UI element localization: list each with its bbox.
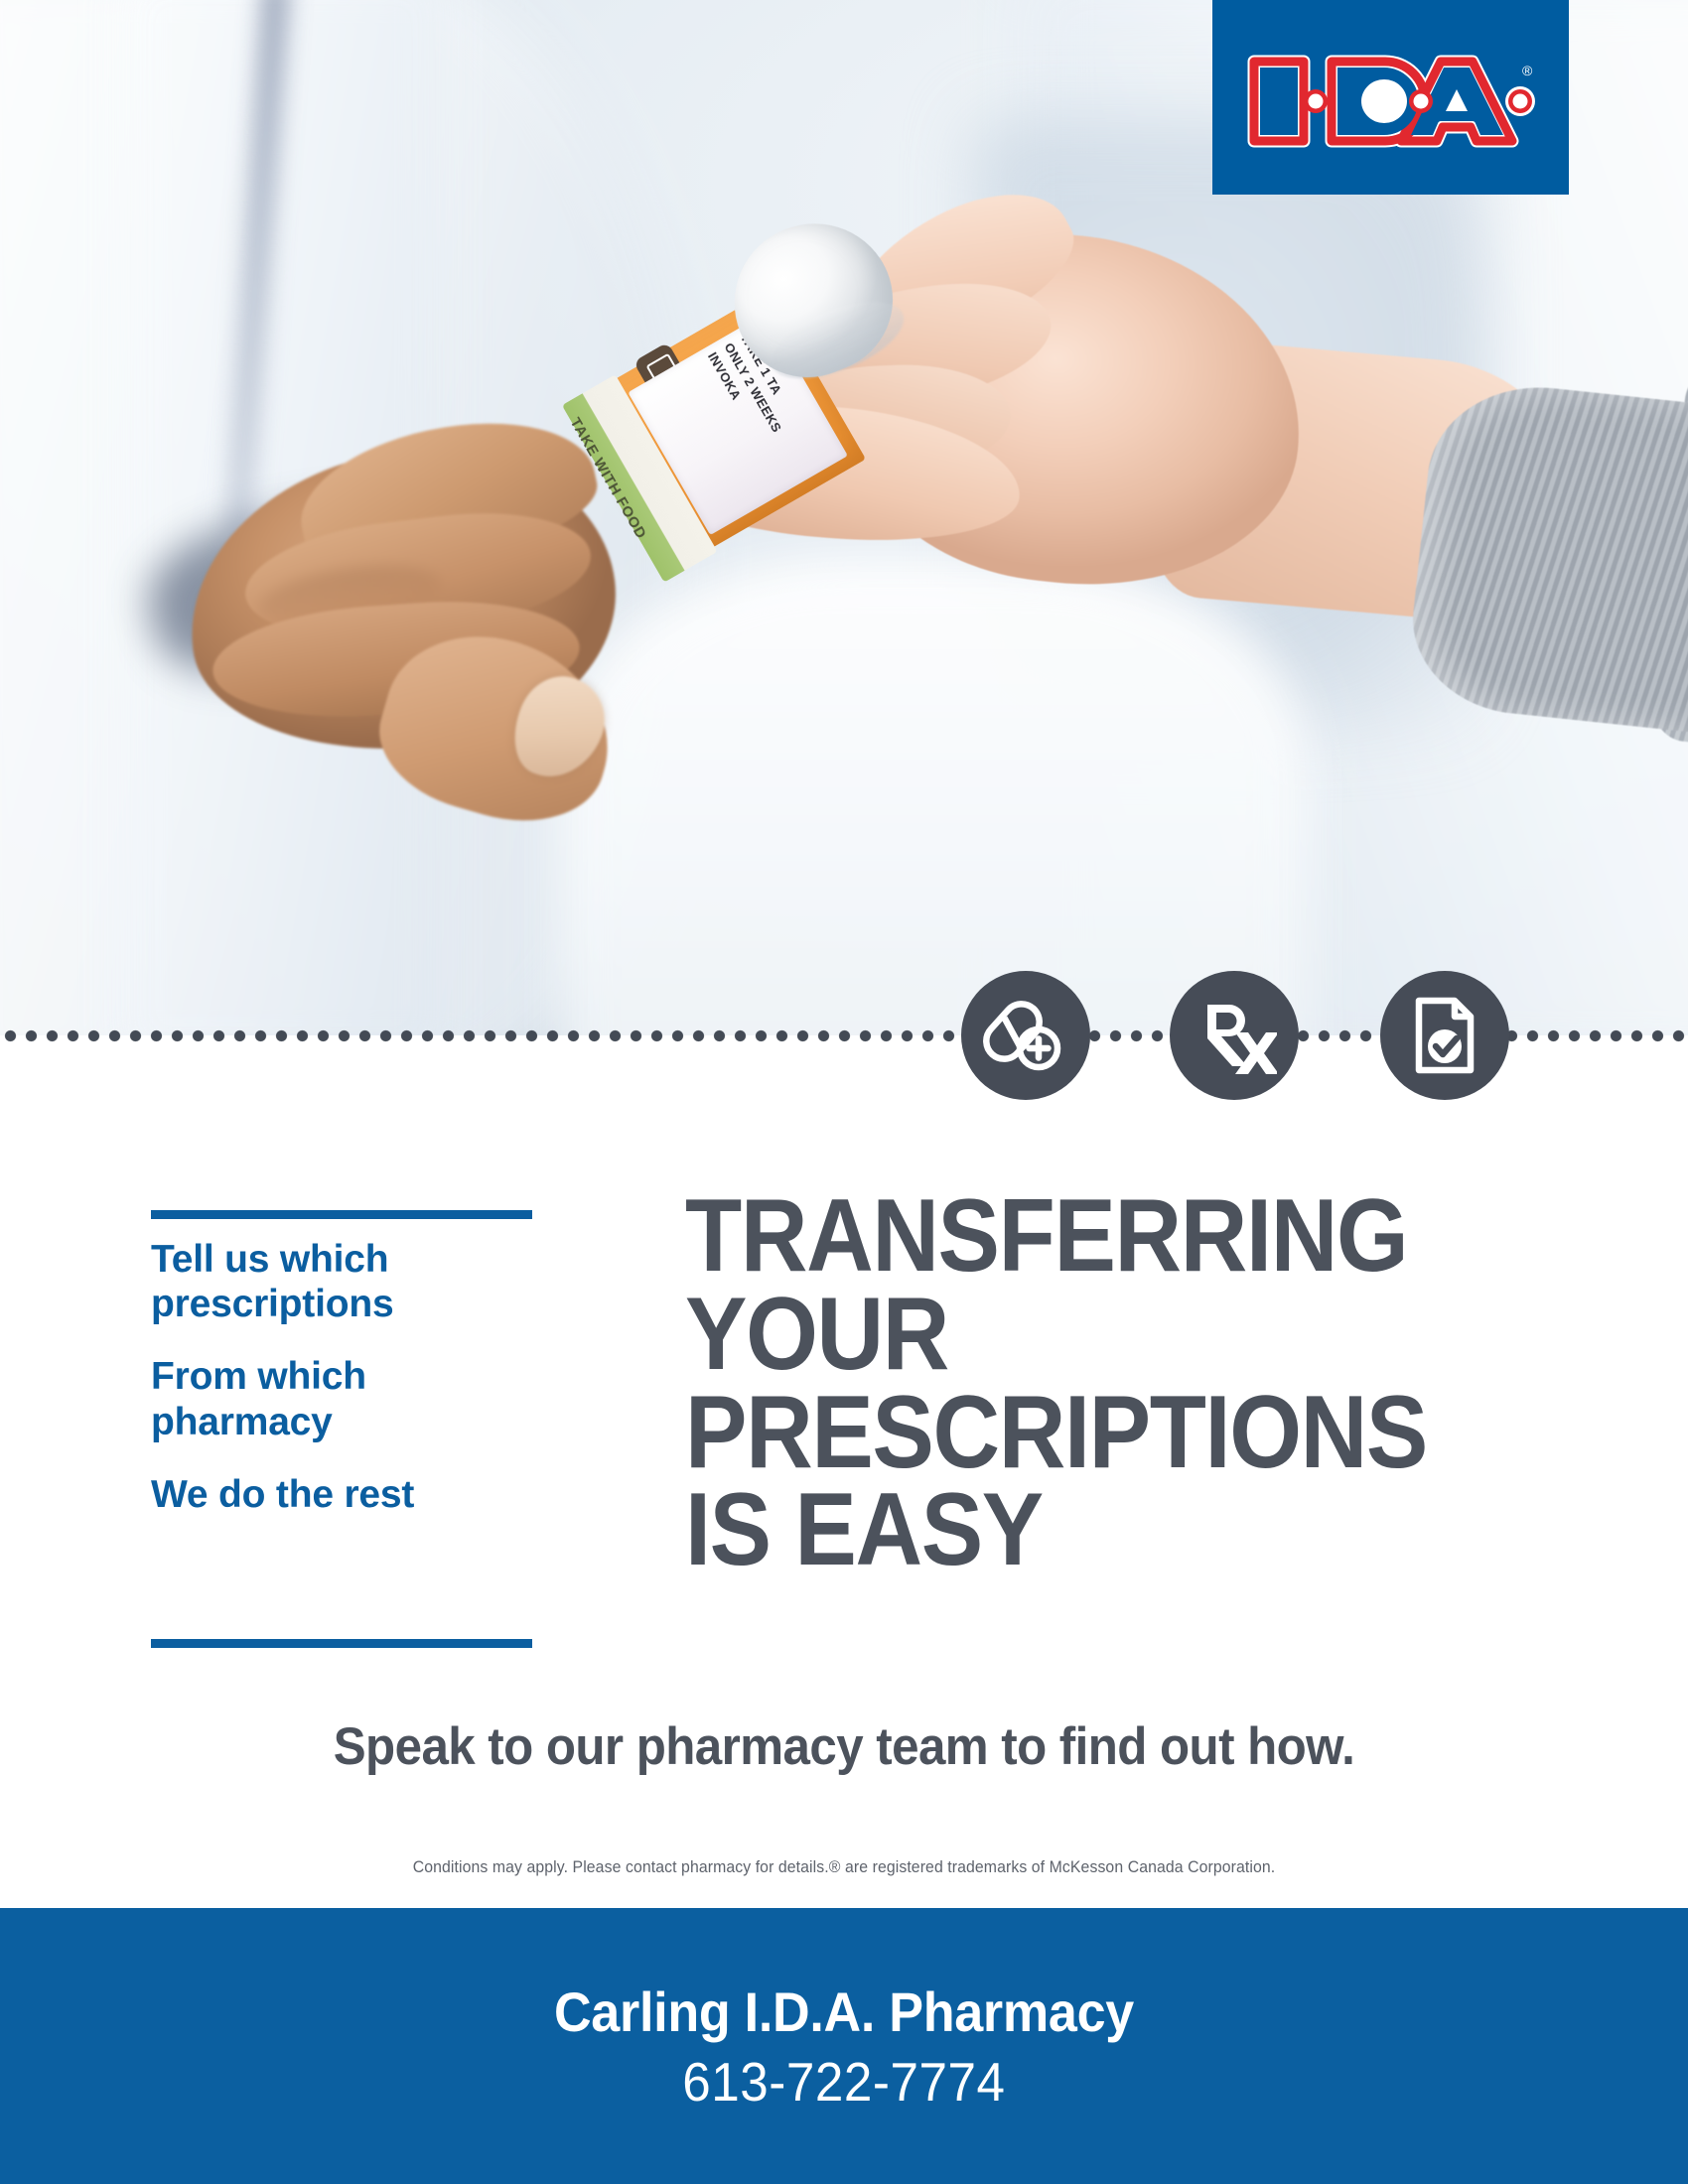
pharmacy-phone[interactable]: 613-722-7774 (682, 2050, 1005, 2114)
svg-text:®: ® (1522, 63, 1533, 78)
step-item: We do the rest (151, 1472, 548, 1517)
pharmacy-name: Carling I.D.A. Pharmacy (554, 1979, 1134, 2044)
pills-plus-glyph (983, 993, 1068, 1078)
rx-glyph (1192, 993, 1277, 1078)
headline-line: TRANSFERRING (685, 1187, 1507, 1286)
headline-line: PRESCRIPTIONS (685, 1384, 1507, 1482)
step-item: From which pharmacy (151, 1354, 548, 1443)
pharmacist-hand (149, 392, 685, 819)
headline-line: YOUR (685, 1286, 1507, 1384)
steps-list: Tell us which prescriptions From which p… (151, 1237, 548, 1517)
page-title: TRANSFERRING YOUR PRESCRIPTIONS IS EASY (685, 1187, 1507, 1579)
document-check-icon (1380, 971, 1509, 1100)
poster: TAKE WITH FOOD 1867845 TAKE 1 TA ONLY 2 … (0, 0, 1688, 2184)
document-check-glyph (1402, 993, 1487, 1078)
ida-logo-mark: ® (1246, 54, 1544, 149)
fine-print: Conditions may apply. Please contact pha… (60, 1857, 1629, 1877)
footer-bar: Carling I.D.A. Pharmacy 613-722-7774 (0, 1908, 1688, 2184)
steps-rule-bottom (151, 1639, 532, 1648)
step-item: Tell us which prescriptions (151, 1237, 548, 1326)
ida-logo: ® (1212, 0, 1569, 195)
headline-line: IS EASY (685, 1481, 1507, 1579)
pills-plus-icon (961, 971, 1090, 1100)
steps-rule-top (151, 1210, 532, 1219)
tagline: Speak to our pharmacy team to find out h… (60, 1716, 1629, 1777)
rx-icon (1170, 971, 1299, 1100)
